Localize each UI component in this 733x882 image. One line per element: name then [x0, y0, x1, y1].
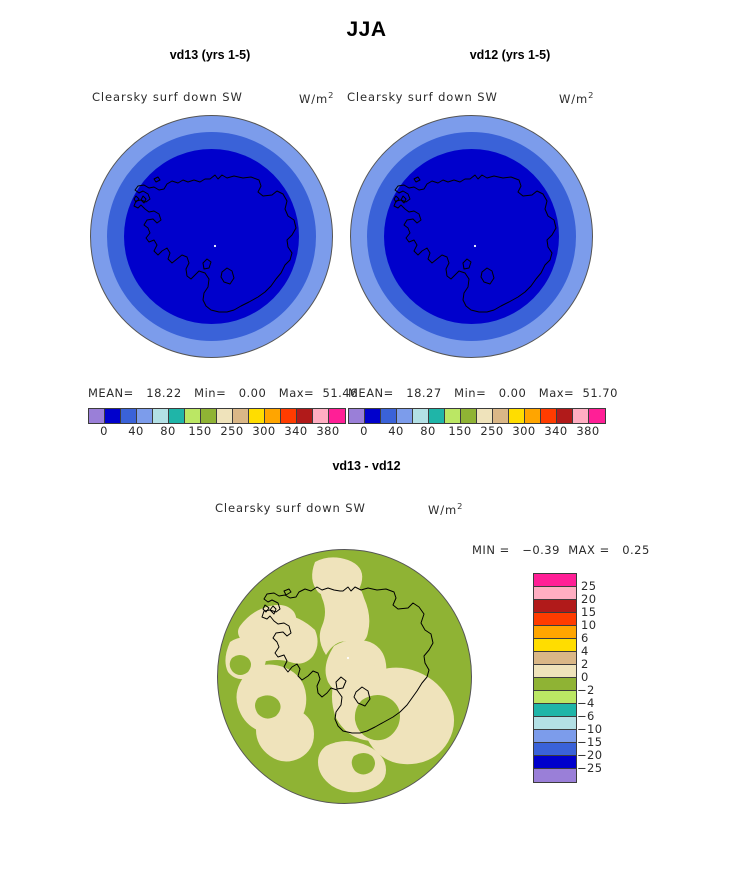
panel2-max-label: Max=	[539, 386, 574, 400]
panel2-mean-value: 18.27	[406, 386, 441, 400]
colorbar-swatch	[557, 409, 573, 423]
colorbar-tick-label: 10	[581, 618, 596, 632]
colorbar-tick-label: 4	[581, 644, 589, 658]
colorbar-swatch	[534, 704, 576, 717]
panel1-units-exponent: 2	[328, 90, 334, 100]
colorbar-swatch	[169, 409, 185, 423]
colorbar-tick-label: 150	[448, 424, 471, 438]
difference-field-overlay	[218, 550, 472, 804]
colorbar-tick-label: 15	[581, 605, 596, 619]
colorbar-tick-label: −20	[577, 748, 602, 762]
colorbar-swatch	[534, 769, 576, 782]
panel2-min-label: Min=	[454, 386, 486, 400]
colorbar-swatch	[281, 409, 297, 423]
colorbar-tick-label: −10	[577, 722, 602, 736]
panel1-stats: MEAN= 18.22 Min= 0.00 Max= 51.46	[88, 386, 358, 400]
colorbar-swatch	[297, 409, 313, 423]
polar-map-vd13	[90, 115, 333, 358]
colorbar-tick-label: 0	[360, 424, 368, 438]
colorbar-swatch	[534, 613, 576, 626]
colorbar-horizontal-vd13[interactable]	[88, 408, 346, 424]
polar-map-vd12	[350, 115, 593, 358]
colorbar-tick-label: −4	[577, 696, 595, 710]
figure-title: JJA	[0, 18, 733, 42]
colorbar-swatch	[313, 409, 329, 423]
panel-title-difference: vd13 - vd12	[0, 459, 733, 473]
colorbar-ticks-vd13: 04080150250300340380	[88, 424, 344, 440]
colorbar-swatch	[445, 409, 461, 423]
colorbar-swatch	[573, 409, 589, 423]
colorbar-tick-label: 340	[284, 424, 307, 438]
colorbar-tick-label: 250	[480, 424, 503, 438]
colorbar-tick-label: −15	[577, 735, 602, 749]
colorbar-swatch	[534, 730, 576, 743]
colorbar-swatch	[461, 409, 477, 423]
colorbar-swatch	[105, 409, 121, 423]
colorbar-swatch	[397, 409, 413, 423]
colorbar-tick-label: 6	[581, 631, 589, 645]
colorbar-tick-label: 250	[220, 424, 243, 438]
panel2-units-exponent: 2	[588, 90, 594, 100]
panel2-units-label: W/m2	[559, 90, 594, 106]
polar-map-difference	[217, 549, 472, 804]
panel1-min-label: Min=	[194, 386, 226, 400]
colorbar-swatch	[121, 409, 137, 423]
diff-units-text: W/m	[428, 503, 457, 517]
colorbar-swatch	[477, 409, 493, 423]
panel2-stats: MEAN= 18.27 Min= 0.00 Max= 51.70	[348, 386, 618, 400]
colorbar-tick-label: 380	[316, 424, 339, 438]
panel1-max-label: Max=	[279, 386, 314, 400]
colorbar-swatch	[534, 626, 576, 639]
colorbar-swatch	[429, 409, 445, 423]
colorbar-swatch	[329, 409, 345, 423]
panel2-variable-label: Clearsky surf down SW	[347, 90, 498, 104]
colorbar-tick-label: 0	[100, 424, 108, 438]
colorbar-swatch	[589, 409, 605, 423]
colorbar-tick-label: 40	[388, 424, 403, 438]
colorbar-tick-label: 380	[576, 424, 599, 438]
colorbar-swatch	[349, 409, 365, 423]
colorbar-swatch	[365, 409, 381, 423]
colorbar-swatch	[413, 409, 429, 423]
colorbar-swatch	[525, 409, 541, 423]
panel1-units-label: W/m2	[299, 90, 334, 106]
colorbar-vertical-ticks: 252015106420−2−4−6−10−15−20−25	[581, 573, 631, 781]
colorbar-swatch	[534, 574, 576, 587]
diff-units-label: W/m2	[428, 501, 463, 517]
colorbar-swatch	[534, 600, 576, 613]
colorbar-tick-label: 20	[581, 592, 596, 606]
diff-stats: MIN = −0.39 MAX = 0.25	[472, 543, 650, 557]
colorbar-ticks-vd12: 04080150250300340380	[348, 424, 604, 440]
colorbar-vertical-difference[interactable]	[533, 573, 577, 783]
colorbar-tick-label: −2	[577, 683, 595, 697]
panel1-variable-label: Clearsky surf down SW	[92, 90, 243, 104]
colorbar-swatch	[534, 743, 576, 756]
panel-title-vd13: vd13 (yrs 1-5)	[100, 48, 320, 62]
panel2-min-value: 0.00	[499, 386, 527, 400]
colorbar-swatch	[185, 409, 201, 423]
diff-units-exponent: 2	[457, 501, 463, 511]
colorbar-swatch	[534, 652, 576, 665]
colorbar-tick-label: 25	[581, 579, 596, 593]
colorbar-tick-label: 300	[252, 424, 275, 438]
colorbar-tick-label: 340	[544, 424, 567, 438]
panel1-min-value: 0.00	[239, 386, 267, 400]
colorbar-swatch	[201, 409, 217, 423]
colorbar-tick-label: 0	[581, 670, 589, 684]
coastline-outline-vd12	[351, 116, 593, 358]
colorbar-swatch	[534, 665, 576, 678]
colorbar-tick-label: 150	[188, 424, 211, 438]
positive-anomaly-patches	[225, 557, 454, 792]
panel1-units-text: W/m	[299, 92, 328, 106]
diff-max-value: 0.25	[622, 543, 650, 557]
colorbar-swatch	[265, 409, 281, 423]
colorbar-swatch	[89, 409, 105, 423]
colorbar-tick-label: 2	[581, 657, 589, 671]
colorbar-swatch	[541, 409, 557, 423]
colorbar-swatch	[534, 678, 576, 691]
panel1-mean-label: MEAN=	[88, 386, 134, 400]
colorbar-swatch	[493, 409, 509, 423]
panel2-max-value: 51.70	[583, 386, 618, 400]
coastline-outline-vd13	[91, 116, 333, 358]
panel1-mean-value: 18.22	[146, 386, 181, 400]
colorbar-swatch	[137, 409, 153, 423]
colorbar-tick-label: 300	[512, 424, 535, 438]
diff-variable-label: Clearsky surf down SW	[215, 501, 366, 515]
colorbar-swatch	[153, 409, 169, 423]
colorbar-tick-label: 40	[128, 424, 143, 438]
colorbar-swatch	[217, 409, 233, 423]
colorbar-swatch	[381, 409, 397, 423]
diff-max-label: MAX =	[568, 543, 609, 557]
colorbar-swatch	[534, 756, 576, 769]
colorbar-tick-label: 80	[420, 424, 435, 438]
panel-title-vd12: vd12 (yrs 1-5)	[400, 48, 620, 62]
colorbar-tick-label: −25	[577, 761, 602, 775]
colorbar-swatch	[534, 639, 576, 652]
colorbar-swatch	[534, 717, 576, 730]
colorbar-horizontal-vd12[interactable]	[348, 408, 606, 424]
colorbar-tick-label: 80	[160, 424, 175, 438]
panel2-mean-label: MEAN=	[348, 386, 394, 400]
colorbar-tick-label: −6	[577, 709, 595, 723]
diff-min-label: MIN =	[472, 543, 510, 557]
panel2-units-text: W/m	[559, 92, 588, 106]
colorbar-swatch	[249, 409, 265, 423]
colorbar-swatch	[534, 587, 576, 600]
colorbar-swatch	[534, 691, 576, 704]
diff-min-value: −0.39	[522, 543, 560, 557]
colorbar-swatch	[509, 409, 525, 423]
colorbar-swatch	[233, 409, 249, 423]
